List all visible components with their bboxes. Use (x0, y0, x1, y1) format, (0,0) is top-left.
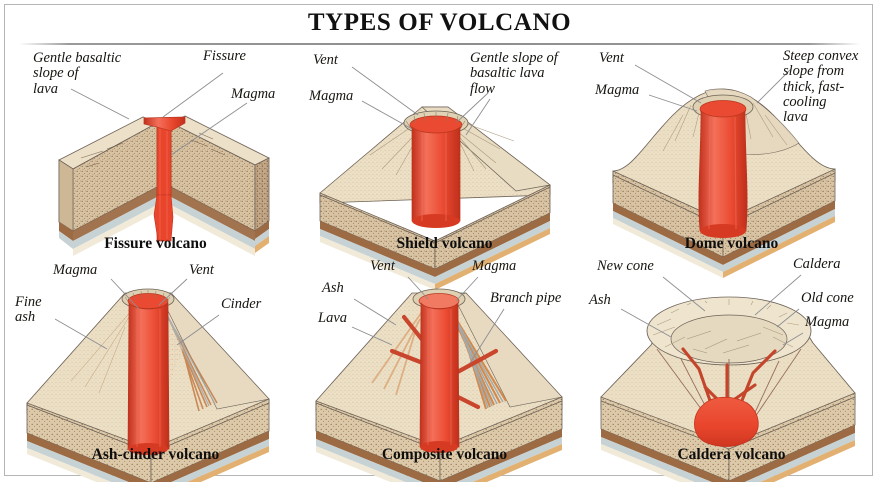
label-magma: Magma (309, 89, 353, 104)
label-magma: Magma (595, 83, 639, 98)
label-vent: Vent (189, 263, 214, 278)
panel-composite: Vent Magma Ash Lava Branch pipe Composit… (300, 253, 589, 465)
label-magma: Magma (805, 315, 849, 330)
caption-caldera-volcano: Caldera volcano (587, 446, 876, 464)
panel-shield: Vent Magma Gentle slope of basaltic lava… (300, 45, 589, 257)
label-lava: Lava (318, 311, 347, 326)
dome-vent-and-magma (693, 95, 753, 238)
label-ash: Ash (322, 281, 344, 296)
label-new-cone: New cone (597, 259, 654, 274)
composite-vent-and-magma (413, 289, 465, 453)
label-magma: Magma (231, 87, 275, 102)
caption-shield-volcano: Shield volcano (300, 235, 589, 253)
label-old-cone: Old cone (801, 291, 854, 306)
caption-fissure-volcano: Fissure volcano (11, 235, 300, 253)
panel-caldera: New cone Caldera Ash Old cone Magma Cald… (587, 253, 876, 465)
page-title: TYPES OF VOLCANO (5, 9, 874, 37)
panel-fissure: Gentle basaltic slope of lava Fissure Ma… (11, 45, 300, 257)
label-steep-convex-slope-from-thick-fast-cooling-lava: Steep convex slope from thick, fast- coo… (783, 49, 858, 126)
label-branch-pipe: Branch pipe (490, 291, 561, 306)
label-fine-ash: Fine ash (15, 295, 42, 326)
ash-cinder-vent-and-magma (122, 289, 174, 455)
label-vent: Vent (370, 259, 395, 274)
diagram-frame: TYPES OF VOLCANO (4, 4, 873, 476)
caldera-volcano-illustration (587, 253, 876, 465)
label-magma: Magma (53, 263, 97, 278)
label-vent: Vent (599, 51, 624, 66)
label-gentle-basaltic-slope-of-lava: Gentle basaltic slope of lava (33, 51, 121, 97)
panel-ash-cinder: Magma Vent Fine ash Cinder Ash-cinder vo… (11, 253, 300, 465)
label-fissure: Fissure (203, 49, 246, 64)
label-magma: Magma (472, 259, 516, 274)
shield-vent-and-magma (404, 111, 468, 228)
label-vent: Vent (313, 53, 338, 68)
caption-ash-cinder-volcano: Ash-cinder volcano (11, 446, 300, 464)
label-cinder: Cinder (221, 297, 261, 312)
ash-cinder-volcano-illustration (11, 253, 300, 465)
caption-composite-volcano: Composite volcano (300, 446, 589, 464)
label-gentle-slope-of-basaltic-lava-flow: Gentle slope of basaltic lava flow (470, 51, 558, 97)
caption-dome-volcano: Dome volcano (587, 235, 876, 253)
label-caldera: Caldera (793, 257, 841, 272)
panel-dome: Vent Magma Steep convex slope from thick… (587, 45, 876, 257)
label-ash: Ash (589, 293, 611, 308)
